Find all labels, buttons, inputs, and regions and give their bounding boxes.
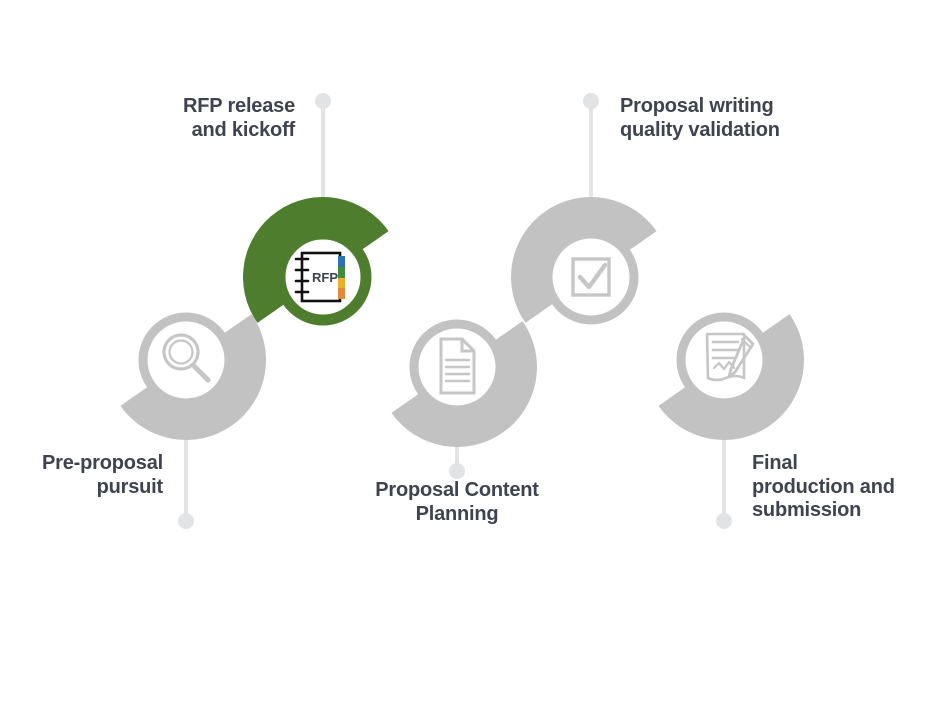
label-proposal-writing-quality-validation: Proposal writing quality validation [620,95,850,142]
label-final-production-and-submission: Final production and submission [752,452,932,523]
rfp-tab-yellow [338,278,345,288]
connector-dot [315,93,331,109]
node-inner-ring [548,234,634,320]
process-diagram: RFP [0,0,932,720]
connector-dot [449,463,465,479]
connector-proposal-writing-quality-validation [583,93,599,195]
rfp-notebook-icon: RFP [296,253,345,301]
connector-dot [716,513,732,529]
node-inner-ring [681,317,767,403]
node-inner-ring [143,317,229,403]
magnifier-icon [164,335,208,380]
label-proposal-content-planning: Proposal Content Planning [342,479,572,526]
node-pre-proposal-pursuit[interactable] [120,314,297,471]
node-rfp-release-and-kickoff[interactable]: RFP [212,166,389,323]
connector-dot [583,93,599,109]
label-pre-proposal-pursuit: Pre-proposal pursuit [0,452,163,499]
checkbox-check-icon [573,259,609,295]
node-proposal-writing-quality-validation[interactable] [480,166,657,323]
connector-final-production-and-submission [716,433,732,529]
connector-pre-proposal-pursuit [178,433,194,529]
rfp-tab-green [338,267,345,278]
connector-rfp-release-and-kickoff [315,93,331,195]
rfp-tab-blue [338,256,345,267]
rfp-tab-orange [338,288,345,299]
signed-document-pen-icon [707,334,753,380]
node-proposal-content-planning[interactable] [391,321,568,478]
rfp-icon-text: RFP [312,270,338,285]
label-rfp-release-and-kickoff: RFP release and kickoff [110,95,295,142]
connector-dot [178,513,194,529]
node-final-production-and-submission[interactable] [658,314,835,471]
document-page-icon [441,339,474,393]
